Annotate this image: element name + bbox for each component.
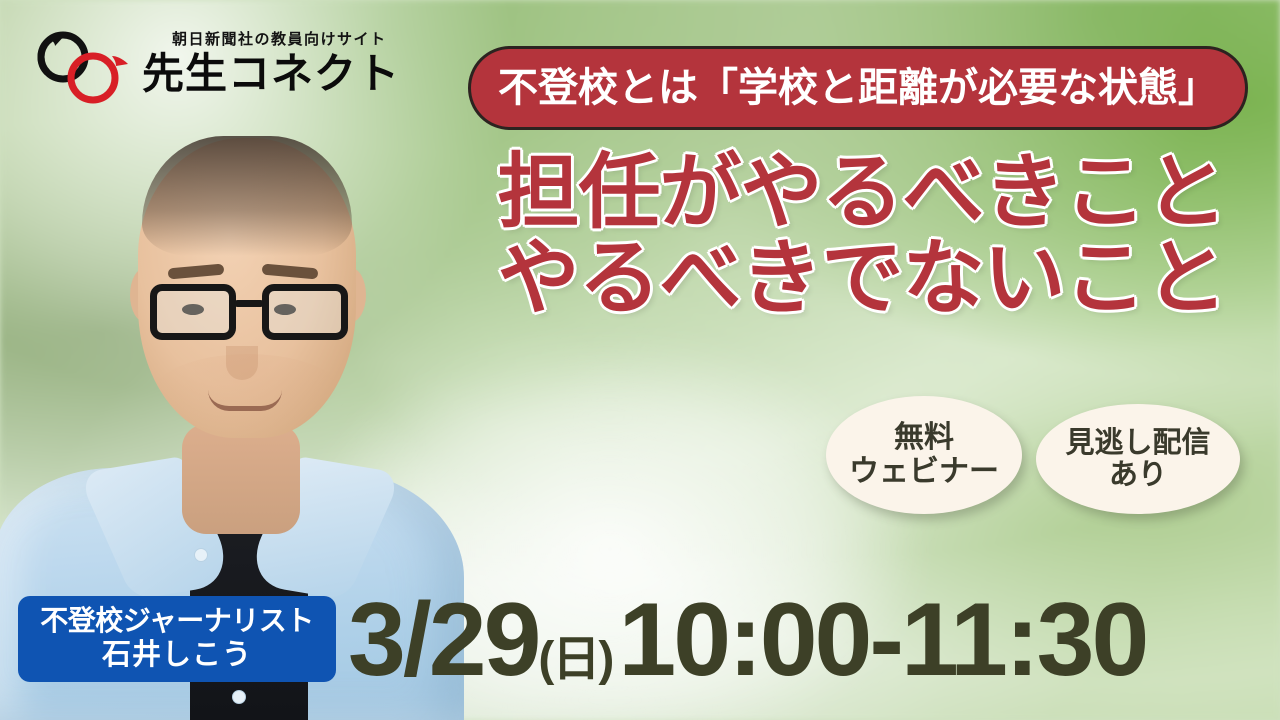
portrait-glasses-lens-left	[150, 284, 236, 340]
badge-replay-available-line-1: 見逃し配信	[1065, 427, 1210, 459]
speaker-name: 石井しこう	[18, 638, 336, 673]
badge-replay-available-line-2: あり	[1109, 459, 1167, 491]
logo-tagline: 朝日新聞社の教員向けサイト	[172, 28, 400, 49]
badge-free-webinar-line-1: 無料	[894, 421, 954, 455]
schedule-datetime: 3/29 (日) 10:00-11:30	[348, 588, 1146, 692]
badge-free-webinar: 無料 ウェビナー	[826, 396, 1022, 514]
headline-line-1: 担任がやるべきこと	[462, 150, 1262, 236]
portrait-nose	[226, 346, 258, 380]
schedule-date: 3/29	[348, 588, 538, 692]
topic-banner-text: 不登校とは「学校と距離が必要な状態」	[498, 68, 1218, 108]
speaker-role: 不登校ジャーナリスト	[18, 604, 336, 638]
portrait-shirt-button-3	[232, 690, 246, 704]
schedule-time: 10:00-11:30	[618, 588, 1146, 692]
interlocking-rings-icon	[30, 30, 138, 106]
portrait-neck	[182, 424, 300, 534]
headline-line-2: やるべきでないこと	[462, 236, 1262, 322]
badge-replay-available: 見逃し配信 あり	[1036, 404, 1240, 514]
portrait-glasses	[146, 284, 352, 342]
schedule-day-of-week: (日)	[538, 636, 612, 684]
portrait-hair	[142, 136, 352, 256]
headline: 担任がやるべきこと やるべきでないこと	[462, 150, 1262, 322]
portrait-shirt-button-1	[194, 548, 208, 562]
badge-free-webinar-line-2: ウェビナー	[849, 455, 999, 489]
site-logo[interactable]: 朝日新聞社の教員向けサイト 先生コネクト	[30, 22, 380, 114]
webinar-promo-banner: 朝日新聞社の教員向けサイト 先生コネクト 不登校とは「学校と距離が必要な状態」 …	[0, 0, 1280, 720]
logo-site-name: 先生コネクト	[142, 53, 400, 95]
portrait-mouth	[208, 390, 282, 411]
portrait-glasses-lens-right	[262, 284, 348, 340]
portrait-glasses-bridge	[234, 300, 264, 307]
logo-text: 朝日新聞社の教員向けサイト 先生コネクト	[142, 22, 400, 95]
topic-banner: 不登校とは「学校と距離が必要な状態」	[468, 46, 1248, 130]
speaker-label: 不登校ジャーナリスト 石井しこう	[18, 596, 336, 682]
